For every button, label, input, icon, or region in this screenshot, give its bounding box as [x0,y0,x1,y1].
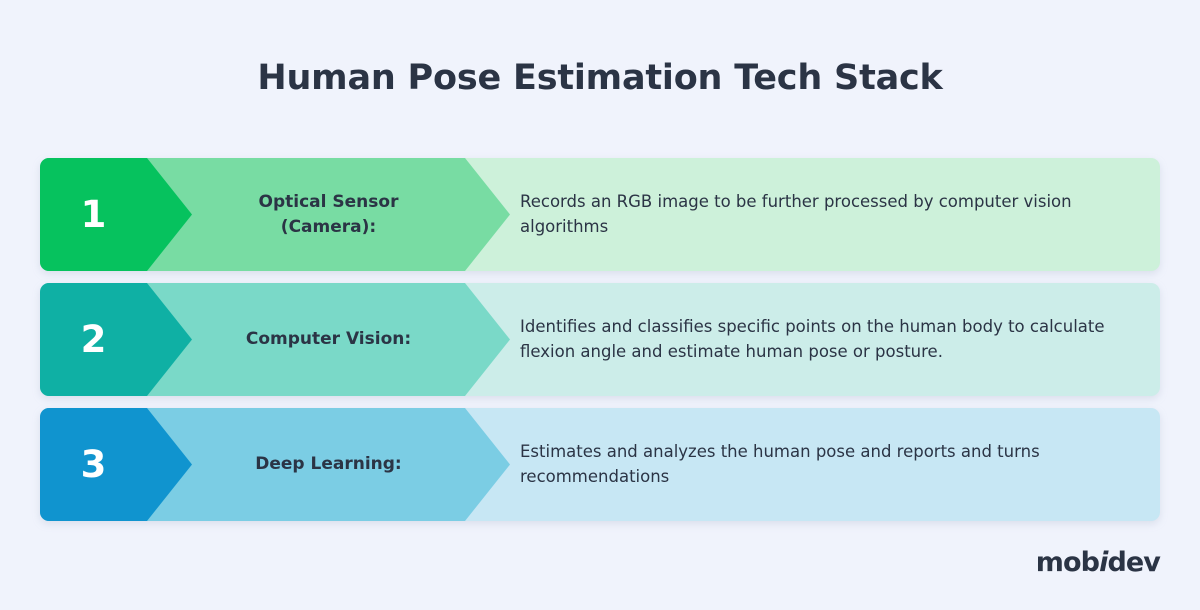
row-description: Identifies and classifies specific point… [520,283,1140,396]
row-label-line-1: Deep Learning: [255,452,401,477]
row-number: 2 [40,283,147,396]
row-number: 1 [40,158,147,271]
row-label-line-1: Computer Vision: [246,327,411,352]
row-label: Computer Vision: [192,283,465,396]
mobidev-logo: mobidev [1036,547,1160,578]
list-item: 1 Optical Sensor (Camera): Records an RG… [40,158,1160,271]
logo-part-2: dev [1107,547,1160,578]
list-item: 3 Deep Learning: Estimates and analyzes … [40,408,1160,521]
tech-stack-list: 1 Optical Sensor (Camera): Records an RG… [40,158,1160,533]
row-label-line-2: (Camera): [281,215,376,240]
page-title: Human Pose Estimation Tech Stack [0,58,1200,98]
row-description: Records an RGB image to be further proce… [520,158,1140,271]
row-number: 3 [40,408,147,521]
infographic-page: Human Pose Estimation Tech Stack 1 Optic… [0,0,1200,610]
logo-part-1: mob [1036,547,1099,578]
list-item: 2 Computer Vision: Identifies and classi… [40,283,1160,396]
row-label-line-1: Optical Sensor [259,190,399,215]
row-label: Optical Sensor (Camera): [192,158,465,271]
row-label: Deep Learning: [192,408,465,521]
row-description: Estimates and analyzes the human pose an… [520,408,1140,521]
